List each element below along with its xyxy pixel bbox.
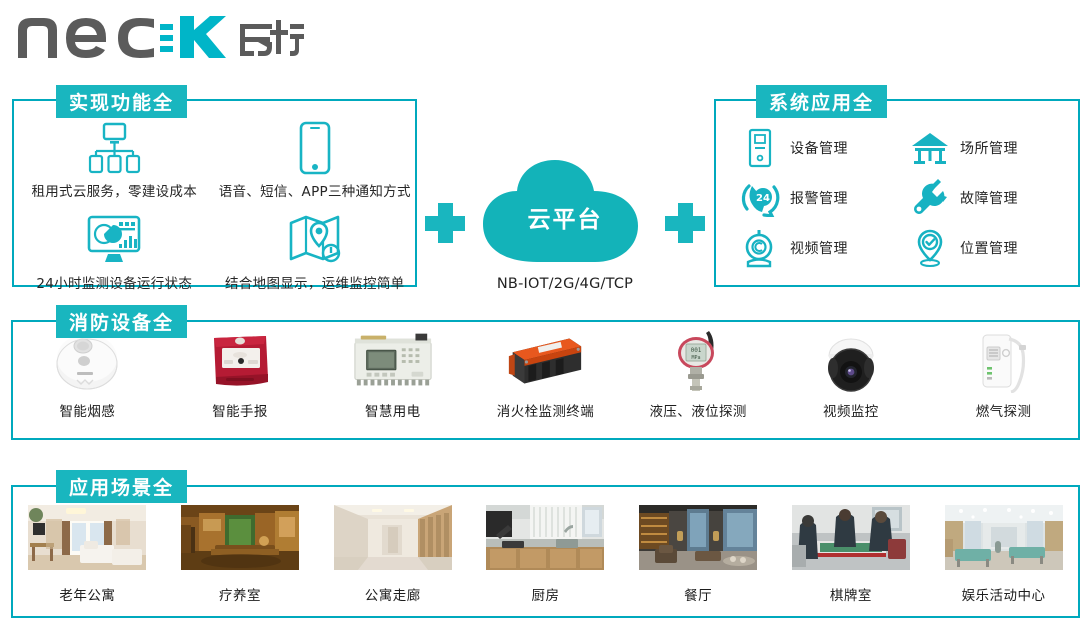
map-location-icon bbox=[287, 211, 343, 269]
system-item-video-management[interactable]: 视频管理 bbox=[740, 223, 900, 273]
dining-hall-photo bbox=[639, 505, 757, 570]
function-item-notification[interactable]: 语音、短信、APP三种通知方式 bbox=[215, 119, 416, 211]
system-panel-title: 系统应用全 bbox=[756, 85, 887, 118]
scenes-row: 老年公寓 疗养室 bbox=[11, 505, 1080, 615]
device-item-smoke-detector[interactable]: 智能烟感 bbox=[17, 328, 157, 420]
pavilion-icon bbox=[910, 127, 950, 169]
system-item-location-management[interactable]: 位置管理 bbox=[910, 223, 1070, 273]
functions-grid: 租用式云服务，零建设成本 语音、短信、APP三种通知方式 bbox=[14, 119, 415, 303]
recreation-center-photo bbox=[945, 505, 1063, 570]
scene-label: 公寓走廊 bbox=[365, 584, 421, 604]
scenes-panel-title: 应用场景全 bbox=[56, 470, 187, 503]
system-item-place-management[interactable]: 场所管理 bbox=[910, 123, 1070, 173]
device-label: 消火栓监测终端 bbox=[497, 400, 594, 420]
chess-card-room-photo bbox=[792, 505, 910, 570]
24h-support-icon: 24 bbox=[740, 177, 780, 219]
smartphone-icon bbox=[298, 119, 332, 177]
system-item-device-management[interactable]: 设备管理 bbox=[740, 123, 900, 173]
wrench-icon bbox=[910, 177, 950, 219]
cloud-platform-group: 云平台 NB-IOT/2G/4G/TCP bbox=[425, 158, 705, 293]
gas-detector-image bbox=[962, 328, 1046, 394]
function-item-cloud-service[interactable]: 租用式云服务，零建设成本 bbox=[14, 119, 215, 211]
system-label: 位置管理 bbox=[960, 238, 1018, 258]
svg-text:24: 24 bbox=[756, 193, 770, 204]
functions-panel: 租用式云服务，零建设成本 语音、短信、APP三种通知方式 bbox=[12, 99, 417, 287]
scene-item-kitchen[interactable]: 厨房 bbox=[475, 505, 615, 604]
device-label: 燃气探测 bbox=[976, 400, 1032, 420]
device-item-gas-detector[interactable]: 燃气探测 bbox=[934, 328, 1074, 420]
cloud-protocols-label: NB-IOT/2G/4G/TCP bbox=[445, 276, 685, 292]
elderly-apartment-photo bbox=[28, 505, 146, 570]
device-item-hydrant-terminal[interactable]: 消火栓监测终端 bbox=[475, 328, 615, 420]
brand-logo bbox=[14, 10, 304, 62]
device-label: 液压、液位探测 bbox=[650, 400, 747, 420]
device-item-pressure-level-sensor[interactable]: 001 MPa 液压、液位探测 bbox=[628, 328, 768, 420]
ptz-camera-image bbox=[809, 328, 893, 394]
device-label: 智慧用电 bbox=[365, 400, 421, 420]
device-item-smart-electricity[interactable]: 智慧用电 bbox=[323, 328, 463, 420]
function-label: 24小时监测设备运行状态 bbox=[36, 272, 192, 292]
scene-label: 棋牌室 bbox=[830, 584, 872, 604]
system-panel: 设备管理 场所管理 bbox=[714, 99, 1080, 287]
scene-item-apartment-corridor[interactable]: 公寓走廊 bbox=[323, 505, 463, 604]
system-label: 场所管理 bbox=[960, 138, 1018, 158]
server-cabinet-icon bbox=[740, 127, 780, 169]
scene-label: 娱乐活动中心 bbox=[962, 584, 1046, 604]
system-item-fault-management[interactable]: 故障管理 bbox=[910, 173, 1070, 223]
system-label: 视频管理 bbox=[790, 238, 848, 258]
apartment-corridor-photo bbox=[334, 505, 452, 570]
system-label: 设备管理 bbox=[790, 138, 848, 158]
pressure-level-sensor-image: 001 MPa bbox=[656, 328, 740, 394]
cloud-platform-label: 云平台 bbox=[475, 200, 655, 234]
plus-sign-left-icon bbox=[425, 203, 465, 243]
device-label: 智能烟感 bbox=[60, 400, 116, 420]
function-label: 结合地图显示，运维监控简单 bbox=[225, 272, 404, 292]
logo-svg bbox=[14, 10, 304, 62]
system-item-alarm-management[interactable]: 24 报警管理 bbox=[740, 173, 900, 223]
scene-item-therapy-room[interactable]: 疗养室 bbox=[170, 505, 310, 604]
svg-text:MPa: MPa bbox=[692, 355, 701, 361]
scene-item-dining-hall[interactable]: 餐厅 bbox=[628, 505, 768, 604]
system-label: 报警管理 bbox=[790, 188, 848, 208]
plus-sign-right-icon bbox=[665, 203, 705, 243]
therapy-room-photo bbox=[181, 505, 299, 570]
devices-row: 智能烟感 智能手报 bbox=[11, 328, 1080, 440]
device-label: 视频监控 bbox=[823, 400, 879, 420]
device-item-ptz-camera[interactable]: 视频监控 bbox=[781, 328, 921, 420]
device-label: 智能手报 bbox=[212, 400, 268, 420]
scene-label: 疗养室 bbox=[219, 584, 261, 604]
function-label: 租用式云服务，零建设成本 bbox=[31, 180, 197, 200]
functions-panel-title: 实现功能全 bbox=[56, 85, 187, 118]
svg-text:001: 001 bbox=[691, 347, 702, 354]
scene-item-elderly-apartment[interactable]: 老年公寓 bbox=[17, 505, 157, 604]
smart-electricity-module-image bbox=[351, 328, 435, 394]
kitchen-photo bbox=[486, 505, 604, 570]
system-label: 故障管理 bbox=[960, 188, 1018, 208]
webcam-icon bbox=[740, 227, 780, 269]
scene-item-recreation-center[interactable]: 娱乐活动中心 bbox=[934, 505, 1074, 604]
location-pin-check-icon bbox=[910, 227, 950, 269]
scene-label: 老年公寓 bbox=[59, 584, 115, 604]
system-grid: 设备管理 场所管理 bbox=[740, 123, 1070, 273]
hydrant-monitor-terminal-image bbox=[503, 328, 587, 394]
scene-label: 餐厅 bbox=[684, 584, 712, 604]
scene-label: 厨房 bbox=[531, 584, 559, 604]
function-item-monitoring[interactable]: 24小时监测设备运行状态 bbox=[14, 211, 215, 303]
manual-call-point-image bbox=[198, 328, 282, 394]
scene-item-chess-card-room[interactable]: 棋牌室 bbox=[781, 505, 921, 604]
function-item-map[interactable]: 结合地图显示，运维监控简单 bbox=[215, 211, 416, 303]
function-label: 语音、短信、APP三种通知方式 bbox=[219, 180, 411, 200]
devices-panel-title: 消防设备全 bbox=[56, 305, 187, 338]
monitor-analytics-icon bbox=[86, 211, 142, 269]
network-cloud-service-icon bbox=[86, 119, 142, 177]
device-item-manual-call-point[interactable]: 智能手报 bbox=[170, 328, 310, 420]
